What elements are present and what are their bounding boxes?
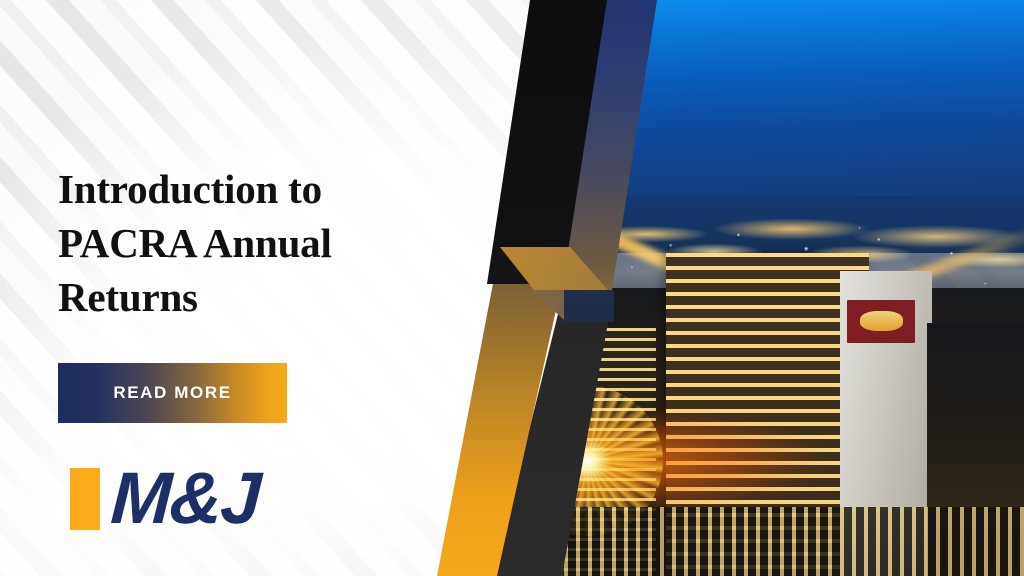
orange-bar-mark-icon [70, 468, 100, 530]
brand-logo-text: M&J [109, 468, 260, 530]
brand-logo[interactable]: M&J [70, 468, 259, 530]
foreground-lights [540, 507, 1024, 576]
headline-line-2: PACRA Annual [58, 216, 438, 270]
headline-line-1: Introduction to [58, 162, 438, 216]
page-title: Introduction to PACRA Annual Returns [58, 162, 438, 324]
promo-banner: Introduction to PACRA Annual Returns REA… [0, 0, 1024, 576]
rooftop-sign [847, 300, 915, 343]
read-more-button[interactable]: READ MORE [58, 363, 287, 423]
headline-line-3: Returns [58, 270, 438, 324]
read-more-label: READ MORE [113, 383, 231, 403]
